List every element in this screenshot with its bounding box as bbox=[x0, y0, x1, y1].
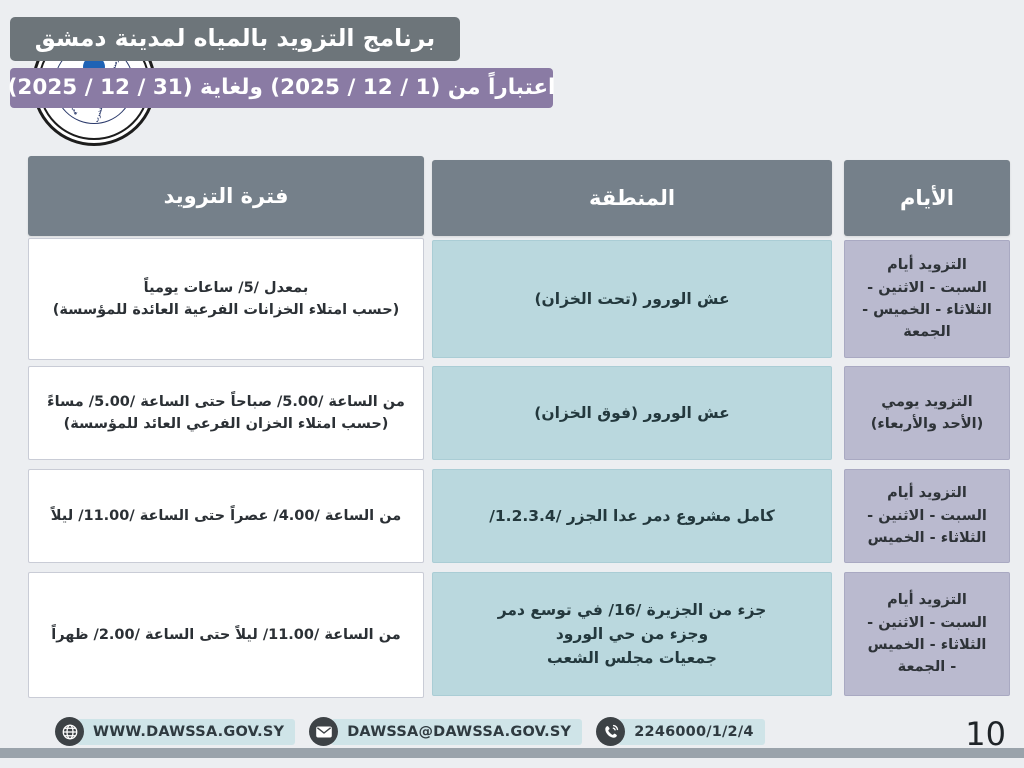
page-number: 10 bbox=[965, 718, 1006, 750]
contact-email[interactable]: DAWSSA@DAWSSA.GOV.SY bbox=[309, 717, 582, 746]
cell-period: بمعدل /5/ ساعات يومياً(حسب امتلاء الخزان… bbox=[28, 238, 424, 360]
column-header-area: المنطقة bbox=[432, 160, 832, 236]
supply-schedule-table: فترة التزويد المنطقة الأيام بمعدل /5/ سا… bbox=[14, 156, 1010, 702]
column-header-days: الأيام bbox=[844, 160, 1010, 236]
cell-days: التزويد أيامالسبت - الاثنين -الثلاثاء - … bbox=[844, 240, 1010, 358]
cell-area: عش الورور (فوق الخزان) bbox=[432, 366, 832, 460]
page-title: برنامج التزويد بالمياه لمدينة دمشق bbox=[10, 17, 460, 61]
page-title-text: برنامج التزويد بالمياه لمدينة دمشق bbox=[35, 27, 435, 51]
contact-website-label: WWW.DAWSSA.GOV.SY bbox=[77, 719, 295, 745]
slide-root: ★ ★ ★ المؤسسة العامة لمياه الشرب في دمشق… bbox=[0, 0, 1024, 768]
contact-phone-label: 2246000/1/2/4 bbox=[618, 719, 764, 745]
cell-days-lines: التزويد يومي(الأحد والأربعاء) bbox=[855, 391, 999, 436]
cell-days: التزويد أيامالسبت - الاثنين -الثلاثاء - … bbox=[844, 469, 1010, 563]
cell-area-lines: كامل مشروع دمر عدا الجزر /1.2.3.4/ bbox=[443, 504, 821, 528]
cell-area: كامل مشروع دمر عدا الجزر /1.2.3.4/ bbox=[432, 469, 832, 563]
contact-list: WWW.DAWSSA.GOV.SY DAWSSA@DAWSSA.GOV.SY bbox=[55, 717, 779, 746]
cell-days-lines: التزويد أيامالسبت - الاثنين -الثلاثاء - … bbox=[855, 589, 999, 679]
slide-header: ★ ★ ★ المؤسسة العامة لمياه الشرب في دمشق… bbox=[0, 0, 1024, 140]
cell-days-lines: التزويد أيامالسبت - الاثنين -الثلاثاء - … bbox=[855, 482, 999, 549]
table-row: من الساعة /4.00/ عصراً حتى الساعة /11.00… bbox=[14, 467, 1010, 570]
cell-period: من الساعة /4.00/ عصراً حتى الساعة /11.00… bbox=[28, 469, 424, 563]
table-row: بمعدل /5/ ساعات يومياً(حسب امتلاء الخزان… bbox=[14, 236, 1010, 364]
cell-period-lines: من الساعة /5.00/ صباحاً حتى الساعة /5.00… bbox=[39, 391, 413, 436]
cell-days: التزويد يومي(الأحد والأربعاء) bbox=[844, 366, 1010, 460]
table-row: من الساعة /11.00/ ليلاً حتى الساعة /2.00… bbox=[14, 570, 1010, 705]
cell-period-lines: من الساعة /11.00/ ليلاً حتى الساعة /2.00… bbox=[39, 624, 413, 646]
column-header-period: فترة التزويد bbox=[28, 156, 424, 236]
cell-period: من الساعة /5.00/ صباحاً حتى الساعة /5.00… bbox=[28, 366, 424, 460]
cell-area: عش الورور (تحت الخزان) bbox=[432, 240, 832, 358]
contact-email-label: DAWSSA@DAWSSA.GOV.SY bbox=[331, 719, 582, 745]
slide-footer: WWW.DAWSSA.GOV.SY DAWSSA@DAWSSA.GOV.SY bbox=[0, 702, 1024, 768]
envelope-icon bbox=[309, 717, 338, 746]
cell-area-lines: جزء من الجزيرة /16/ في توسع دمروجزء من ح… bbox=[443, 598, 821, 670]
contact-website[interactable]: WWW.DAWSSA.GOV.SY bbox=[55, 717, 295, 746]
table-header-row: فترة التزويد المنطقة الأيام bbox=[14, 156, 1010, 236]
contact-phone[interactable]: 2246000/1/2/4 bbox=[596, 717, 764, 746]
date-range-banner: اعتباراً من (1 / 12 / 2025) ولغاية (31 /… bbox=[10, 68, 553, 108]
globe-icon bbox=[55, 717, 84, 746]
cell-area-lines: عش الورور (فوق الخزان) bbox=[443, 401, 821, 425]
table-row: من الساعة /5.00/ صباحاً حتى الساعة /5.00… bbox=[14, 364, 1010, 467]
cell-period-lines: بمعدل /5/ ساعات يومياً(حسب امتلاء الخزان… bbox=[39, 277, 413, 322]
cell-area: جزء من الجزيرة /16/ في توسع دمروجزء من ح… bbox=[432, 572, 832, 696]
date-range-text: اعتباراً من (1 / 12 / 2025) ولغاية (31 /… bbox=[8, 77, 556, 99]
cell-days: التزويد أيامالسبت - الاثنين -الثلاثاء - … bbox=[844, 572, 1010, 696]
cell-period: من الساعة /11.00/ ليلاً حتى الساعة /2.00… bbox=[28, 572, 424, 698]
cell-period-lines: من الساعة /4.00/ عصراً حتى الساعة /11.00… bbox=[39, 505, 413, 527]
cell-area-lines: عش الورور (تحت الخزان) bbox=[443, 287, 821, 311]
footer-divider bbox=[0, 748, 1024, 758]
cell-days-lines: التزويد أيامالسبت - الاثنين -الثلاثاء - … bbox=[855, 254, 999, 344]
